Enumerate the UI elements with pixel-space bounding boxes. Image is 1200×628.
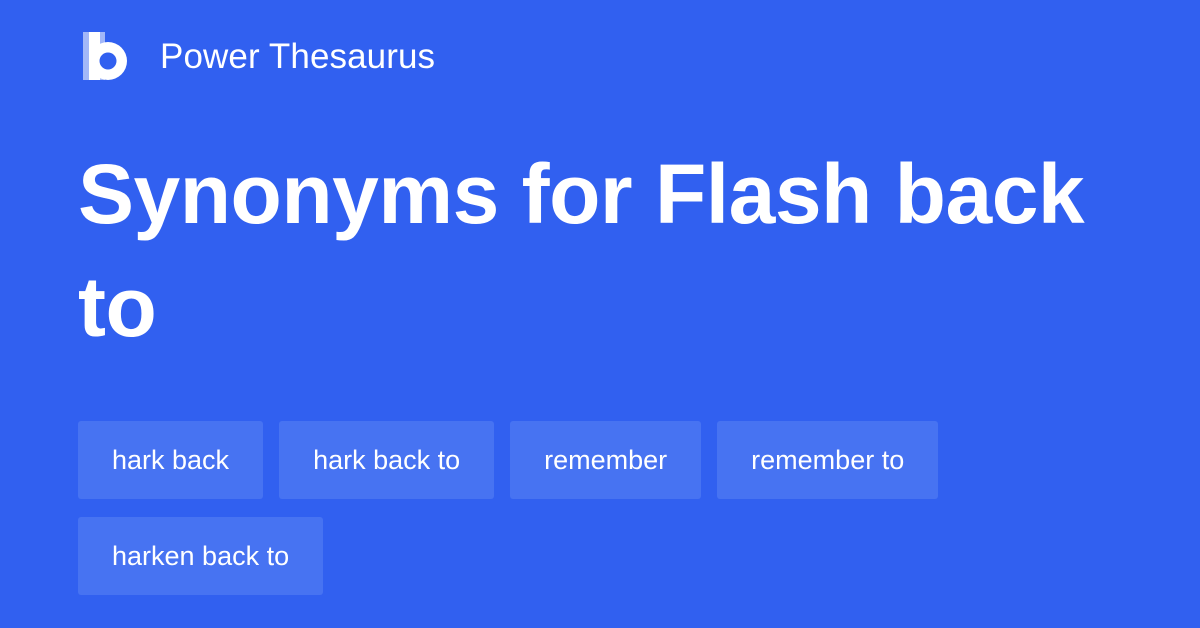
brand-name: Power Thesaurus — [160, 39, 435, 74]
page-root: Power Thesaurus Synonyms for Flash back … — [0, 0, 1200, 628]
power-thesaurus-b-logo-icon — [78, 28, 134, 84]
synonym-chip[interactable]: hark back — [78, 421, 263, 499]
synonym-chip[interactable]: remember — [510, 421, 701, 499]
synonym-chip[interactable]: hark back to — [279, 421, 494, 499]
page-title: Synonyms for Flash back to — [78, 138, 1088, 363]
synonym-chip[interactable]: remember to — [717, 421, 938, 499]
synonym-chip[interactable]: harken back to — [78, 517, 323, 595]
brand-header[interactable]: Power Thesaurus — [78, 28, 435, 84]
synonym-chip-list: hark back hark back to remember remember… — [78, 421, 1118, 595]
